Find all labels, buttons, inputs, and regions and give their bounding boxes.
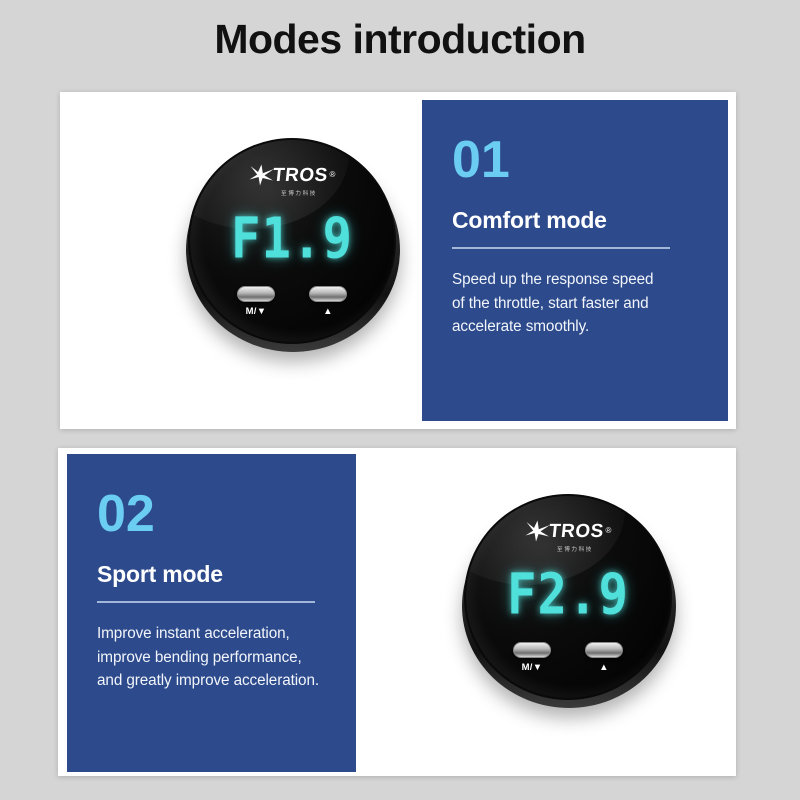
brand-name: TROS (272, 166, 329, 185)
throttle-controller-device: TROS ® 至博力科技 F1.9 M/▼ ▲ (182, 134, 404, 356)
mode-down-button-label: M/▼ (246, 306, 267, 317)
mode-number: 02 (97, 488, 326, 540)
info-panel-sport: 02 Sport mode Improve instant accelerati… (67, 454, 356, 772)
mode-down-button[interactable]: M/▼ (513, 642, 551, 673)
mode-number: 01 (452, 134, 698, 186)
brand-logo: TROS ® 至博力科技 (190, 164, 394, 198)
mode-up-button[interactable]: ▲ (585, 642, 623, 673)
device-button-group: M/▼ ▲ (466, 642, 670, 673)
brand-subtitle: 至博力科技 (466, 548, 670, 554)
brand-name: TROS (548, 522, 605, 541)
button-cap-right[interactable] (585, 642, 623, 658)
page-title: Modes introduction (0, 16, 800, 63)
info-panel-comfort: 01 Comfort mode Speed up the response sp… (422, 100, 728, 421)
button-cap-left[interactable] (237, 286, 275, 302)
mode-heading: Sport mode (97, 562, 326, 587)
panel-divider (452, 247, 670, 249)
mode-down-button[interactable]: M/▼ (237, 286, 275, 317)
mode-card-comfort: TROS ® 至博力科技 F1.9 M/▼ ▲ (60, 92, 736, 429)
device-button-group: M/▼ ▲ (190, 286, 394, 317)
device-image-comfort: TROS ® 至博力科技 F1.9 M/▼ ▲ (182, 134, 404, 356)
x-star-icon (249, 164, 275, 186)
registered-mark: ® (605, 527, 611, 535)
throttle-controller-device: TROS ® 至博力科技 F2.9 M/▼ ▲ (458, 490, 680, 712)
x-star-icon (525, 520, 551, 542)
brand-subtitle: 至博力科技 (190, 192, 394, 198)
mode-description: Speed up the response speed of the throt… (452, 268, 698, 338)
mode-heading: Comfort mode (452, 208, 698, 233)
mode-down-button-label: M/▼ (522, 662, 543, 673)
button-cap-right[interactable] (309, 286, 347, 302)
panel-divider (97, 601, 315, 603)
brand-logo: TROS ® 至博力科技 (466, 520, 670, 554)
mode-description: Improve instant acceleration, improve be… (97, 622, 326, 692)
device-face: TROS ® 至博力科技 F1.9 M/▼ ▲ (188, 138, 396, 344)
mode-card-sport: 02 Sport mode Improve instant accelerati… (58, 448, 736, 776)
device-display-value: F2.9 (466, 562, 670, 627)
registered-mark: ® (329, 171, 335, 179)
device-face: TROS ® 至博力科技 F2.9 M/▼ ▲ (464, 494, 672, 700)
device-display-value: F1.9 (190, 206, 394, 271)
mode-up-button-label: ▲ (323, 306, 333, 317)
mode-up-button-label: ▲ (599, 662, 609, 673)
mode-up-button[interactable]: ▲ (309, 286, 347, 317)
button-cap-left[interactable] (513, 642, 551, 658)
device-image-sport: TROS ® 至博力科技 F2.9 M/▼ ▲ (458, 490, 680, 712)
